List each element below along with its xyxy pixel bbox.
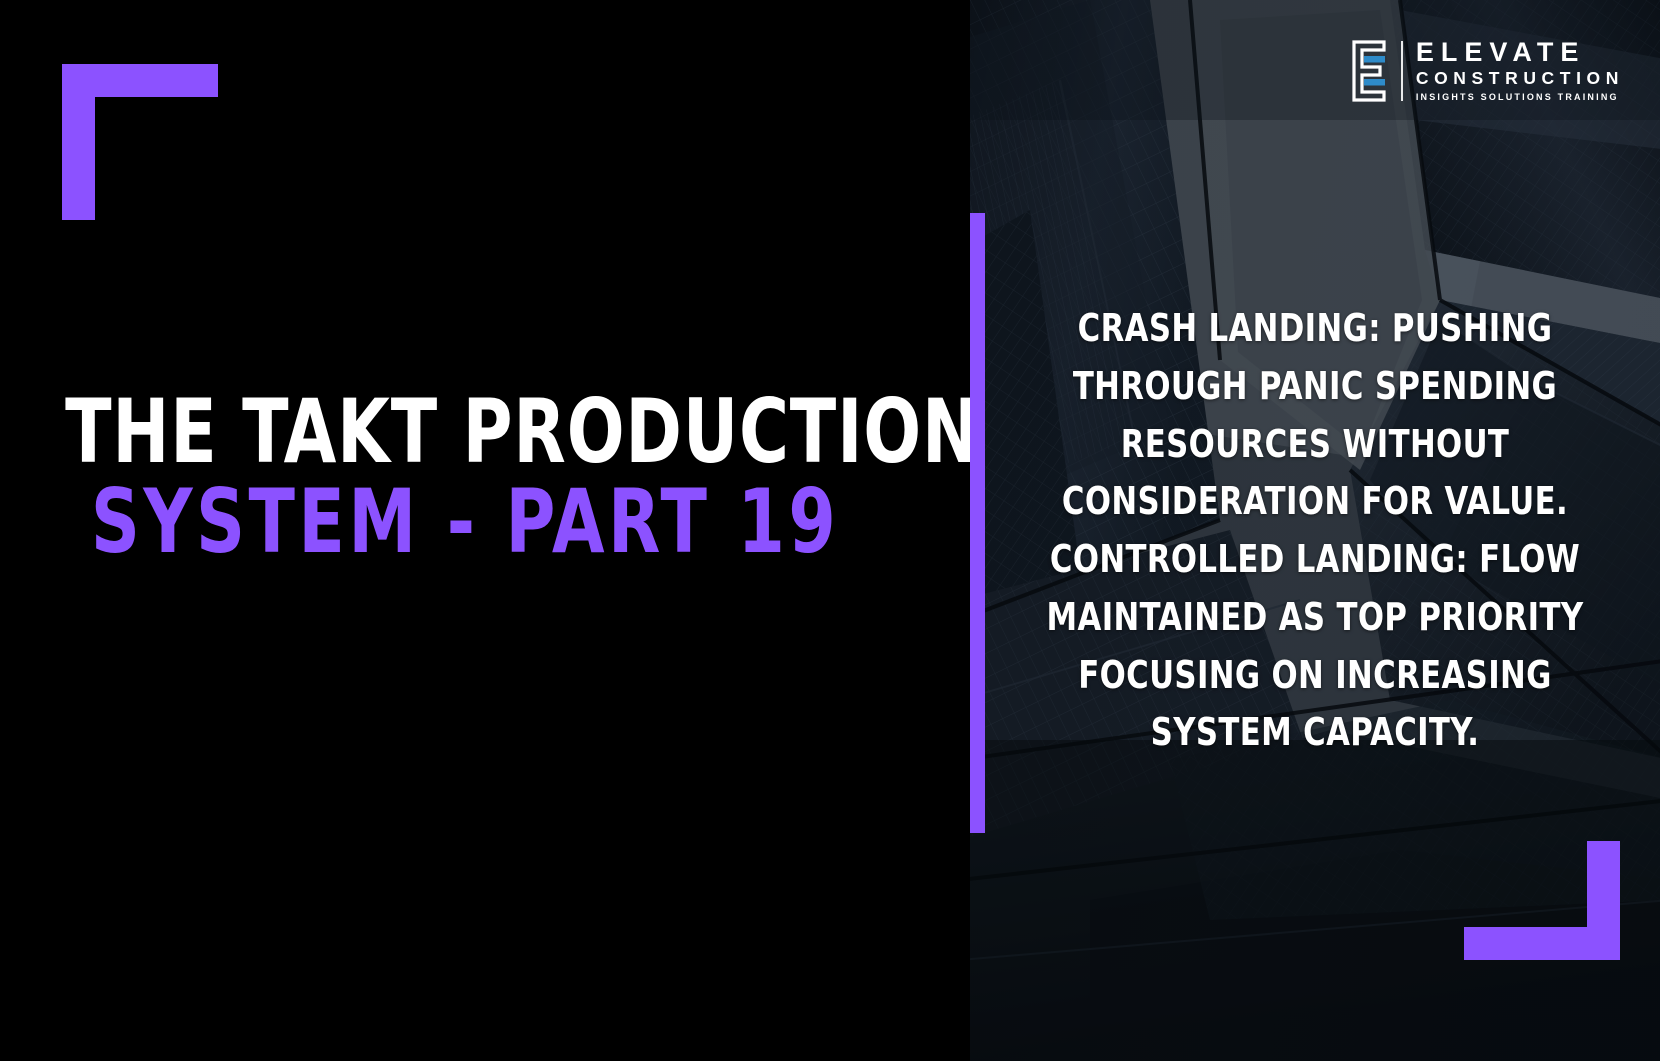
vertical-purple-accent-bar [970,213,985,833]
bracket-vertical-bar [62,64,95,220]
slide-canvas: THE TAKT PRODUCTION SYSTEM - PART 19 [0,0,1660,1061]
logo-subtitle: CONSTRUCTION [1416,67,1624,90]
elevate-construction-logo[interactable]: ELEVATE CONSTRUCTION INSIGHTS SOLUTIONS … [1350,38,1624,105]
quote-text: CRASH LANDING: PUSHING THROUGH PANIC SPE… [1024,300,1605,762]
elevate-e-monogram-icon [1350,40,1388,102]
title-line-secondary: SYSTEM - PART 19 [65,480,865,564]
page-title: THE TAKT PRODUCTION SYSTEM - PART 19 [0,390,930,565]
bottom-right-corner-bracket [1464,841,1620,960]
top-left-corner-bracket [62,64,218,220]
logo-name: ELEVATE [1416,38,1586,67]
left-panel: THE TAKT PRODUCTION SYSTEM - PART 19 [0,0,970,1061]
logo-tagline: INSIGHTS SOLUTIONS TRAINING [1416,91,1619,105]
right-panel: CRASH LANDING: PUSHING THROUGH PANIC SPE… [970,0,1660,1061]
logo-divider [1401,41,1403,101]
logo-wordmark: ELEVATE CONSTRUCTION INSIGHTS SOLUTIONS … [1416,38,1624,105]
title-line-primary: THE TAKT PRODUCTION [65,390,865,474]
bracket-horizontal-bar [1464,927,1620,960]
